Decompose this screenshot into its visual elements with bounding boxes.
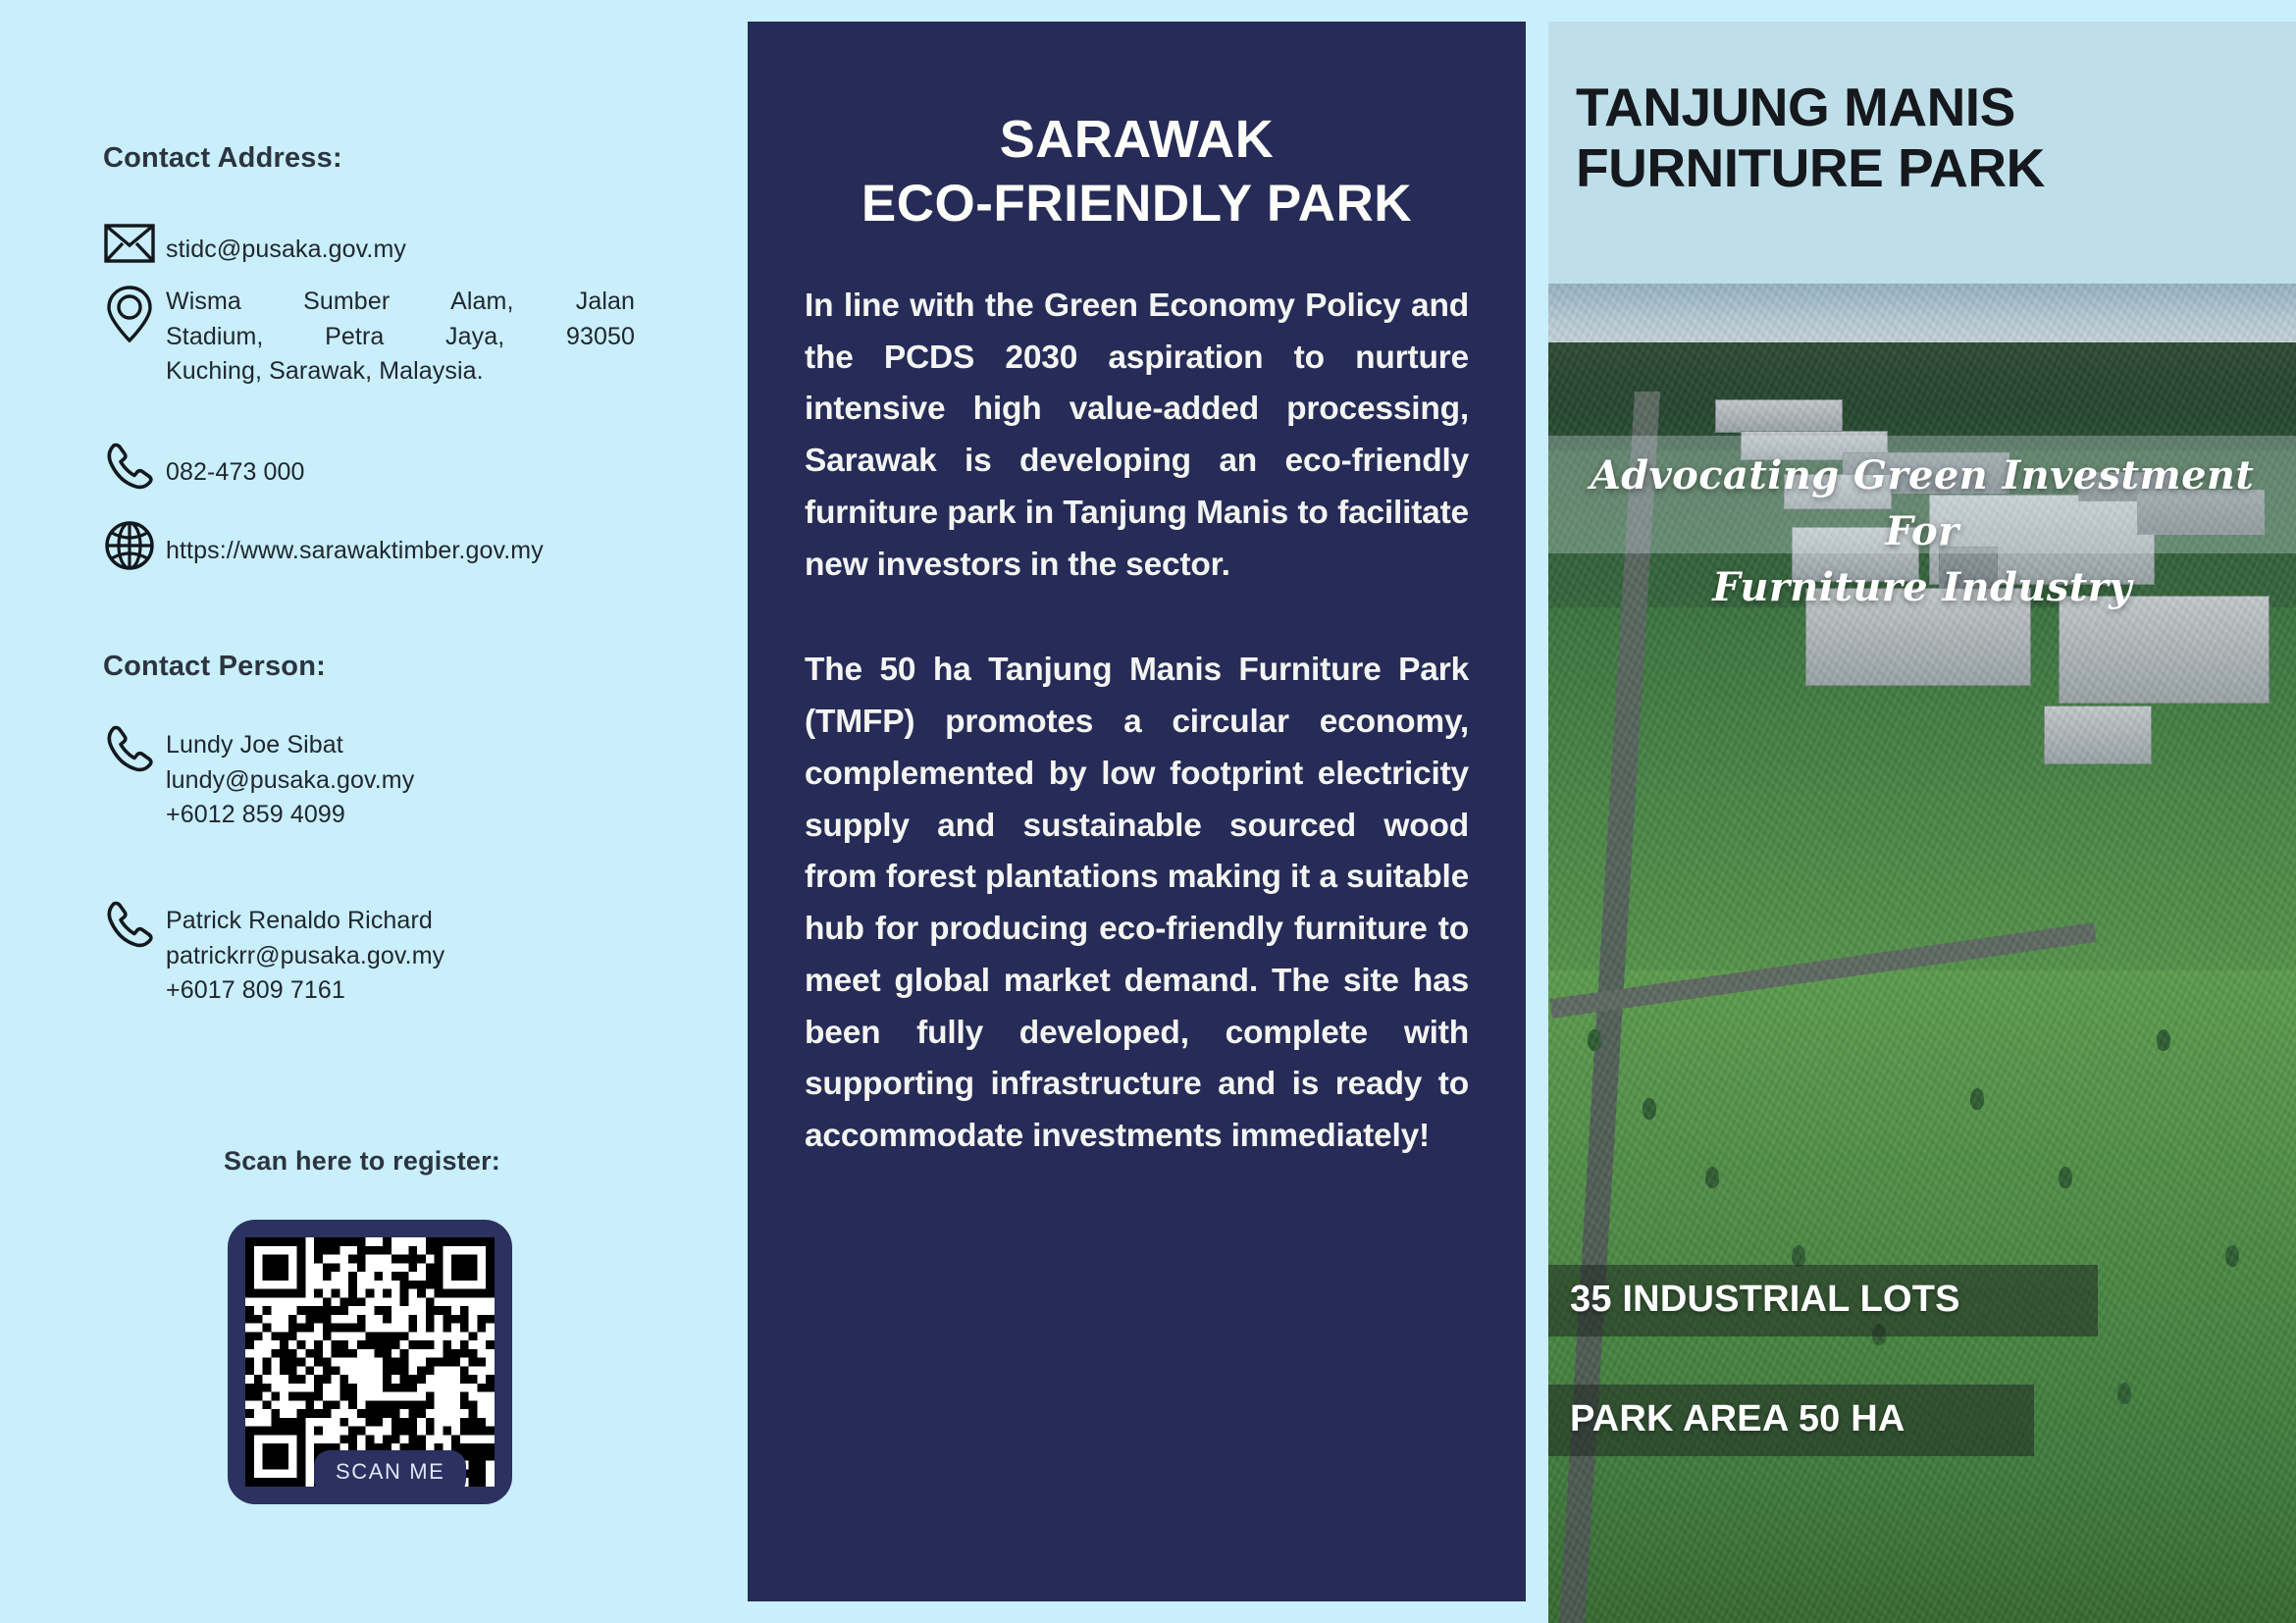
phone-icon [93,440,166,491]
contact-row-phone: 082-473 000 [93,440,305,491]
contact-person-2-details: Patrick Renaldo Richard patrickrr@pusaka… [166,898,444,1009]
person-email[interactable]: lundy@pusaka.gov.my [166,763,414,799]
tree [1588,1029,1601,1051]
center-paragraph-1: In line with the Green Economy Policy an… [805,281,1469,592]
contact-row-email: stidc@pusaka.gov.my [93,224,406,268]
phone-number[interactable]: 082-473 000 [166,440,305,491]
contact-person-2: Patrick Renaldo Richard patrickrr@pusaka… [93,898,444,1009]
contact-address-heading: Contact Address: [103,142,342,175]
tree [1792,1245,1805,1267]
tree [2157,1029,2170,1051]
contact-person-1-details: Lundy Joe Sibat lundy@pusaka.gov.my +601… [166,722,414,833]
center-title-line-2: ECO-FRIENDLY PARK [805,175,1469,233]
phone-icon [93,898,166,949]
contact-row-address: Wisma Sumber Alam, Jalan Stadium, Petra … [93,285,635,390]
right-title-line-1: TANJUNG MANIS [1576,77,2270,137]
person-mobile[interactable]: +6012 859 4099 [166,798,414,833]
contact-person-1: Lundy Joe Sibat lundy@pusaka.gov.my +601… [93,722,414,833]
badge-park-area: PARK AREA 50 HA [1548,1385,2034,1456]
tree [1705,1167,1719,1188]
right-title-line-2: FURNITURE PARK [1576,137,2270,198]
contact-panel: Contact Address: stidc@pusaka.gov.my Wis… [0,0,748,1623]
furniture-park-panel: TANJUNG MANIS FURNITURE PARK [1548,22,2296,1623]
eco-park-info-panel: SARAWAK ECO-FRIENDLY PARK In line with t… [748,22,1526,1601]
tree [2117,1383,2131,1404]
contact-person-heading: Contact Person: [103,651,326,683]
tree [2059,1167,2072,1188]
person-email[interactable]: patrickrr@pusaka.gov.my [166,939,444,974]
tagline: Advocating Green Investment For Furnitur… [1548,448,2296,615]
tree [1643,1098,1656,1120]
contact-row-website: https://www.sarawaktimber.gov.my [93,520,544,571]
right-panel-title: TANJUNG MANIS FURNITURE PARK [1548,22,2296,198]
scan-here-heading: Scan here to register: [224,1146,500,1177]
person-mobile[interactable]: +6017 809 7161 [166,973,444,1009]
phone-icon [93,722,166,773]
person-name: Lundy Joe Sibat [166,728,414,763]
envelope-icon [93,224,166,263]
email-address[interactable]: stidc@pusaka.gov.my [166,224,406,268]
center-title-line-1: SARAWAK [805,110,1469,169]
globe-icon [93,520,166,571]
building [1715,399,1843,433]
center-paragraph-2: The 50 ha Tanjung Manis Furniture Park (… [805,645,1469,1163]
tree [1970,1088,1984,1110]
building [2044,706,2152,764]
postal-address: Wisma Sumber Alam, Jalan Stadium, Petra … [166,285,635,390]
aerial-photo: Advocating Green Investment For Furnitur… [1548,284,2296,1623]
person-name: Patrick Renaldo Richard [166,904,444,939]
tagline-line-1: Advocating Green Investment For [1548,448,2296,560]
tagline-line-2: Furniture Industry [1548,560,2296,616]
location-pin-icon [93,285,166,343]
tree [2225,1245,2239,1267]
website-url[interactable]: https://www.sarawaktimber.gov.my [166,520,544,569]
qr-code-image[interactable] [245,1237,495,1487]
badge-industrial-lots: 35 INDUSTRIAL LOTS [1548,1265,2098,1336]
scan-me-badge: SCAN ME [314,1450,466,1495]
brochure-page: Contact Address: stidc@pusaka.gov.my Wis… [0,0,2296,1623]
